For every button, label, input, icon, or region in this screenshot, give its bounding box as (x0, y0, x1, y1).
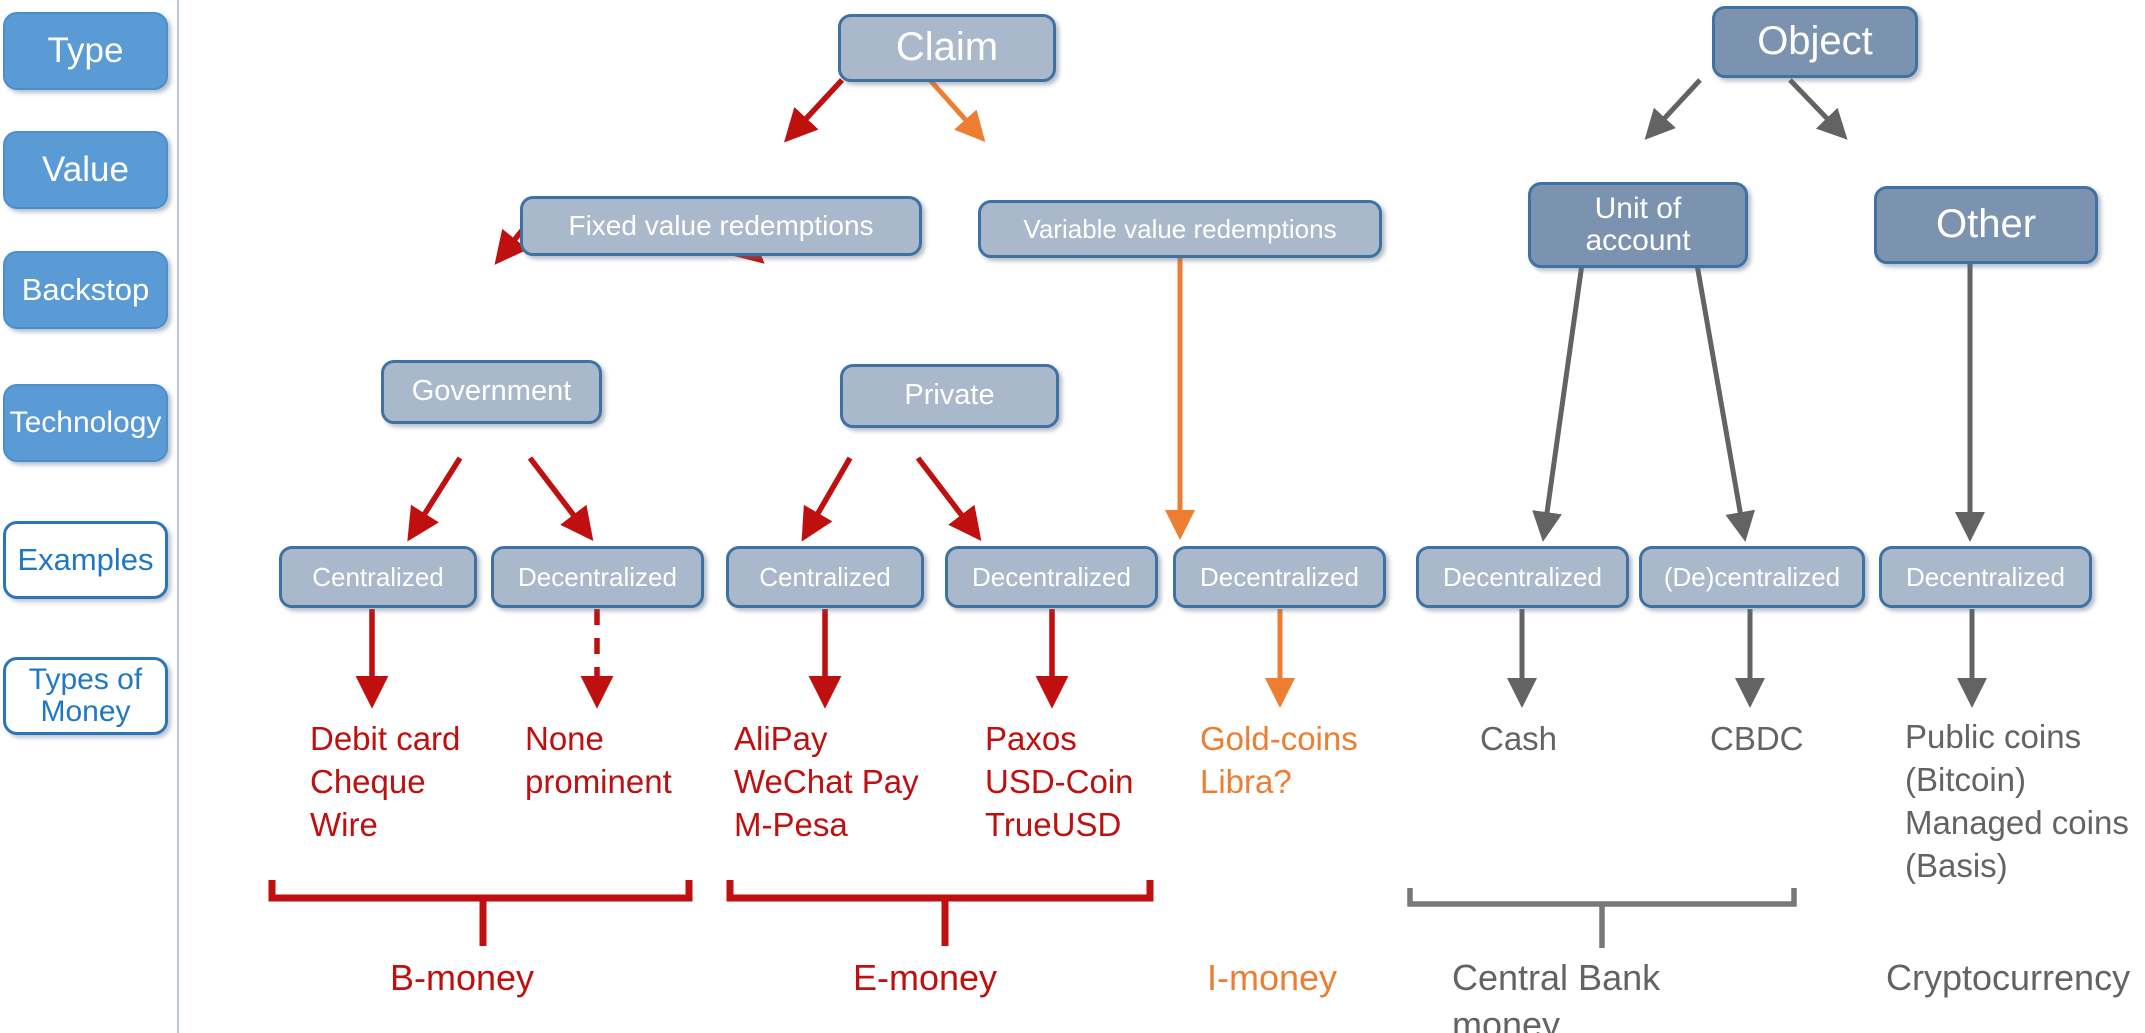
node-tech-other-decentralized[interactable]: Decentralized (1879, 546, 2092, 608)
examples-i-money: Gold-coins Libra? (1200, 718, 1410, 804)
arrow-object-to-unit-of-account (1650, 80, 1700, 134)
arrow-private-to-centralized (806, 458, 850, 534)
node-label-object: Object (1757, 20, 1873, 63)
legend-item-examples[interactable]: Examples (3, 521, 168, 599)
node-tech-government-centralized[interactable]: Centralized (279, 546, 477, 608)
node-tech-private-decentralized[interactable]: Decentralized (945, 546, 1158, 608)
node-label-private: Private (904, 380, 994, 411)
money-type-cryptocurrency: Cryptocurrency (1886, 955, 2145, 1002)
arrow-private-to-decentralized (918, 458, 976, 534)
examples-b-centralized: Debit card Cheque Wire (310, 718, 520, 847)
legend-item-value[interactable]: Value (3, 131, 168, 209)
brace-b-money (272, 880, 689, 946)
brace-e-money (730, 880, 1150, 946)
node-claim[interactable]: Claim (838, 14, 1056, 82)
diagram-canvas: Type Value Backstop Technology Examples … (0, 0, 2145, 1033)
brace-central-bank-money (1410, 888, 1794, 948)
legend-label-type: Type (48, 32, 124, 69)
node-label-tech-priv-centralized: Centralized (759, 563, 891, 591)
legend-item-backstop[interactable]: Backstop (3, 251, 168, 329)
money-type-i-money: I-money (1207, 955, 1407, 1002)
node-label-fixed-value: Fixed value redemptions (568, 211, 873, 241)
legend-item-types-of-money[interactable]: Types of Money (3, 657, 168, 735)
node-label-tech-other-decentralized: Decentralized (1906, 563, 2065, 591)
legend-label-value: Value (42, 151, 129, 188)
money-type-e-money: E-money (853, 955, 1053, 1002)
legend-label-types-of-money: Types of Money (6, 664, 165, 728)
arrow-claim-to-variable-value (930, 80, 980, 136)
node-tech-private-centralized[interactable]: Centralized (726, 546, 924, 608)
node-tech-variable-decentralized[interactable]: Decentralized (1173, 546, 1386, 608)
legend-label-examples: Examples (17, 544, 153, 577)
node-label-variable-value: Variable value redemptions (1023, 215, 1336, 243)
node-tech-uoa-decentralized[interactable]: Decentralized (1416, 546, 1629, 608)
node-other[interactable]: Other (1874, 186, 2098, 264)
arrow-object-to-other (1790, 80, 1842, 134)
examples-b-decentralized: None prominent (525, 718, 745, 804)
node-label-tech-uoa-de-centralized: (De)centralized (1664, 563, 1840, 591)
node-private[interactable]: Private (840, 364, 1059, 428)
arrow-government-to-decentralized (530, 458, 588, 534)
node-tech-government-decentralized[interactable]: Decentralized (491, 546, 704, 608)
node-variable-value-redemptions[interactable]: Variable value redemptions (978, 200, 1382, 258)
arrow-claim-to-fixed-value (790, 80, 842, 136)
legend-item-technology[interactable]: Technology (3, 384, 168, 462)
node-label-other: Other (1936, 203, 2036, 246)
column-divider (177, 0, 179, 1033)
legend-item-type[interactable]: Type (3, 12, 168, 90)
legend-label-backstop: Backstop (22, 274, 150, 307)
money-type-b-money: B-money (390, 955, 590, 1002)
node-label-tech-variable-decentralized: Decentralized (1200, 563, 1359, 591)
node-tech-uoa-de-centralized[interactable]: (De)centralized (1639, 546, 1865, 608)
node-object[interactable]: Object (1712, 6, 1918, 78)
arrow-government-to-centralized (412, 458, 460, 534)
examples-cryptocurrency: Public coins (Bitcoin) Managed coins (Ba… (1905, 716, 2145, 888)
node-unit-of-account[interactable]: Unit of account (1528, 182, 1748, 268)
examples-e-decentralized: Paxos USD-Coin TrueUSD (985, 718, 1215, 847)
examples-e-centralized: AliPay WeChat Pay M-Pesa (734, 718, 964, 847)
node-fixed-value-redemptions[interactable]: Fixed value redemptions (520, 196, 922, 256)
node-label-tech-gov-centralized: Centralized (312, 563, 444, 591)
legend-label-technology: Technology (10, 407, 162, 439)
examples-cbdc: CBDC (1710, 718, 1880, 761)
node-label-tech-priv-decentralized: Decentralized (972, 563, 1131, 591)
node-label-tech-gov-decentralized: Decentralized (518, 563, 677, 591)
connector-layer (0, 0, 2145, 1033)
examples-cash: Cash (1480, 718, 1650, 761)
node-label-tech-uoa-decentralized: Decentralized (1443, 563, 1602, 591)
node-government[interactable]: Government (381, 360, 602, 424)
node-label-unit-of-account: Unit of account (1585, 193, 1690, 258)
node-label-government: Government (412, 376, 572, 407)
money-type-central-bank-money: Central Bank money (1452, 955, 1772, 1033)
node-label-claim: Claim (896, 26, 998, 69)
